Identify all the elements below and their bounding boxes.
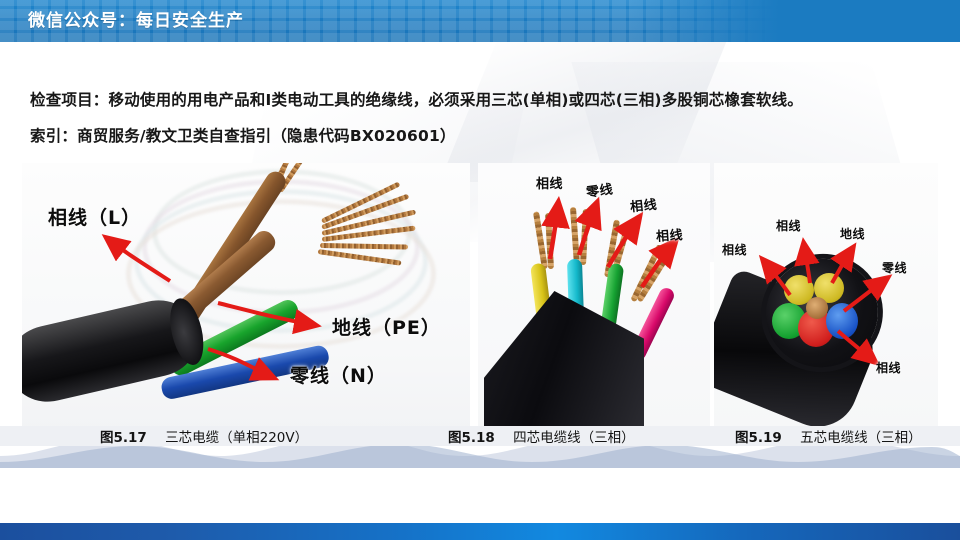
figure-5-17: 相线（L） 地线（PE） 零线（N） (22, 163, 470, 431)
caption-5-18-number: 图5.18 (448, 430, 495, 446)
figure-5-19-arrows (714, 163, 938, 431)
slide-canvas: 微信公众号：每日安全生产 检查项目：移动使用的用电产品和I类电动工具的绝缘线，必… (0, 0, 960, 540)
caption-5-17: 图5.17 三芯电缆（单相220V） (100, 426, 308, 446)
figure-5-18-photo: 相线 零线 相线 相线 (478, 163, 710, 431)
figure-5-18: 相线 零线 相线 相线 (478, 163, 710, 431)
figure-captions: 图5.17 三芯电缆（单相220V） 图5.18 四芯电缆线（三相） 图5.19… (0, 426, 960, 452)
index-line: 索引：商贸服务/教文卫类自查指引（隐患代码BX020601） (30, 124, 930, 146)
inspection-item-line: 检查项目：移动使用的用电产品和I类电动工具的绝缘线，必须采用三芯(单相)或四芯(… (30, 88, 930, 110)
figure-5-18-label-2: 零线 (585, 178, 614, 201)
footer-bar (0, 523, 960, 540)
caption-5-17-title: 三芯电缆（单相220V） (165, 430, 308, 446)
caption-5-19: 图5.19 五芯电缆线（三相） (735, 426, 922, 446)
caption-5-18: 图5.18 四芯电缆线（三相） (448, 426, 635, 446)
text-block: 检查项目：移动使用的用电产品和I类电动工具的绝缘线，必须采用三芯(单相)或四芯(… (30, 88, 930, 146)
caption-5-19-number: 图5.19 (735, 430, 782, 446)
figure-5-19-photo: 相线 相线 地线 零线 相线 (714, 163, 938, 431)
figure-5-18-label-1: 相线 (536, 173, 563, 192)
caption-5-19-title: 五芯电缆线（三相） (800, 430, 922, 446)
caption-5-17-number: 图5.17 (100, 430, 147, 446)
figure-5-17-label-live: 相线（L） (48, 203, 141, 230)
figure-5-19-label-2: 相线 (776, 217, 801, 234)
figure-5-17-label-earth: 地线（PE） (332, 313, 441, 340)
figure-5-19-label-1: 相线 (722, 241, 747, 258)
header-title: 微信公众号：每日安全生产 (28, 0, 244, 42)
caption-5-18-title: 四芯电缆线（三相） (513, 430, 635, 446)
figure-5-18-arrows (478, 163, 710, 431)
slide-body: 检查项目：移动使用的用电产品和I类电动工具的绝缘线，必须采用三芯(单相)或四芯(… (0, 42, 960, 468)
figure-5-19-label-5: 相线 (876, 359, 901, 376)
header-bar: 微信公众号：每日安全生产 (0, 0, 960, 42)
figure-5-18-label-4: 相线 (655, 224, 683, 245)
figure-5-19: 相线 相线 地线 零线 相线 (714, 163, 938, 431)
figure-5-17-label-neutral: 零线（N） (290, 361, 387, 388)
figure-5-19-label-4: 零线 (882, 259, 907, 276)
figure-row: 相线（L） 地线（PE） 零线（N） (22, 163, 938, 431)
figure-5-19-label-3: 地线 (840, 225, 865, 242)
figure-5-17-photo: 相线（L） 地线（PE） 零线（N） (22, 163, 470, 431)
figure-5-18-label-3: 相线 (629, 194, 658, 216)
